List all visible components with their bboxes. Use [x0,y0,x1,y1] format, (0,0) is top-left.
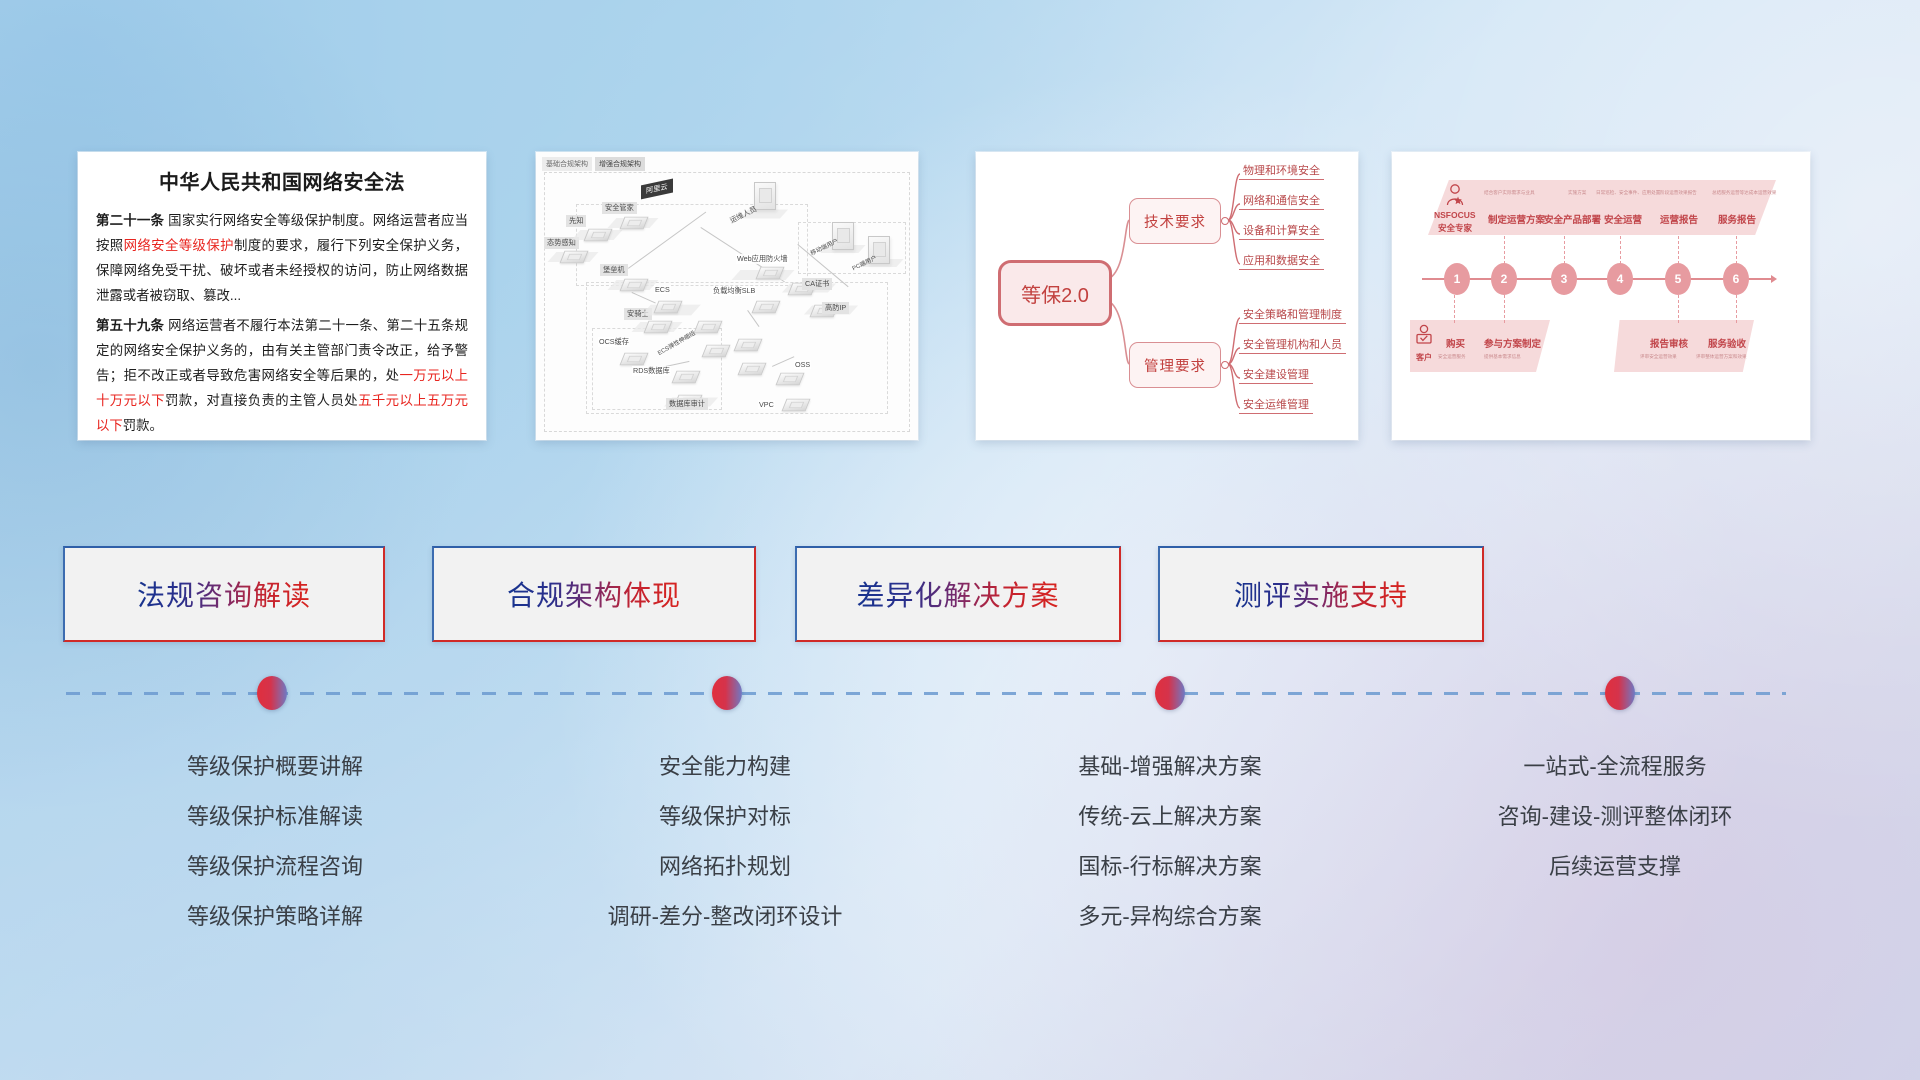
dash-bottom-5 [1678,295,1680,323]
card-law-document[interactable]: 中华人民共和国网络安全法 第二十一条 国家实行网络安全等级保护制度。网络运营者应… [78,152,486,440]
mindmap-branch-management: 管理要求 [1129,342,1221,388]
label-anti-ddos-ip: 高防IP [822,302,849,314]
dash-step-6 [1736,236,1738,264]
node-ecs [652,294,682,316]
article-59-text-c: 罚款。 [123,418,163,433]
mindmap-leaf-physical-security: 物理和环境安全 [1239,162,1324,180]
process-node-2[interactable]: 2 [1491,263,1517,295]
section-title-box-2[interactable]: 合规架构体现 [432,546,756,642]
node-vpc [780,392,810,414]
article-59-label: 第五十九条 [96,318,164,333]
process-node-5[interactable]: 5 [1665,263,1691,295]
cards-row: 中华人民共和国网络安全法 第二十一条 国家实行网络安全等级保护制度。网络运营者应… [0,152,1920,444]
step-2-sub: 结合客户实际需求与业具 [1484,190,1535,196]
list-item: 等级保护标准解读 [80,792,470,842]
dash-bottom-6 [1736,295,1738,323]
step-4-sub: 日常巡检、安全事件、应用处置 [1596,190,1660,196]
step-6-title: 服务报告 [1718,212,1756,226]
step-5-sub: 阶段运营效果报告 [1660,190,1697,196]
list-item: 多元-异构综合方案 [975,892,1365,942]
process-top-band [1428,180,1776,235]
section-items-2: 安全能力构建 等级保护对标 网络拓扑规划 调研-差分-整改闭环设计 [530,742,920,942]
card-mindmap[interactable]: 等保2.0 技术要求 物理和环境安全 网络和通信安全 设备和计算安全 应用和数据… [976,152,1358,440]
law-content: 中华人民共和国网络安全法 第二十一条 国家实行网络安全等级保护制度。网络运营者应… [78,152,486,440]
node-ocs-cache [618,346,648,368]
list-item: 一站式-全流程服务 [1420,742,1810,792]
process-node-1[interactable]: 1 [1444,263,1470,295]
label-bastion-host: 堡垒机 [600,264,628,276]
bottom-step-2-title: 参与方案制定 [1484,336,1541,350]
label-vpc: VPC [758,400,775,409]
bottom-step-6-sub: 评审整体运营方案和效果 [1696,354,1747,360]
step-4-title: 安全运营 [1604,212,1642,226]
bottom-step-2-sub: 提供基本需求信息 [1484,354,1521,360]
section-title-1: 法规咨询解读 [137,574,311,614]
mindmap-toggle-technical[interactable] [1221,217,1229,225]
bottom-step-6-title: 服务验收 [1708,336,1746,350]
dash-bottom-1 [1454,295,1456,323]
node-ecs-instance-4 [732,332,762,354]
bottom-step-1-title: 购买 [1446,336,1465,350]
process-node-3[interactable]: 3 [1551,263,1577,295]
dash-step-4 [1620,236,1622,264]
process-node-4[interactable]: 4 [1607,263,1633,295]
step-6-sub: 总结服务运营等达成本运营效果 [1712,190,1776,196]
expert-name-line2: 安全专家 [1438,222,1472,234]
timeline-dashed-line [66,692,1786,695]
list-item: 国标-行标解决方案 [975,842,1365,892]
list-item: 等级保护流程咨询 [80,842,470,892]
timeline-dot-1[interactable] [257,676,287,710]
list-item: 等级保护策略详解 [80,892,470,942]
expert-name-line1: NSFOCUS [1434,210,1476,220]
timeline-dot-4[interactable] [1605,676,1635,710]
mindmap-leaf-application-security: 应用和数据安全 [1239,252,1324,270]
node-slb [750,294,780,316]
list-item: 咨询-建设-测评整体闭环 [1420,792,1810,842]
step-2-title: 制定运营方案 [1488,212,1545,226]
step-3-title: 安全产品部署 [1544,212,1601,226]
section-items-1: 等级保护概要讲解 等级保护标准解读 等级保护流程咨询 等级保护策略详解 [80,742,470,942]
list-item: 后续运营支撑 [1420,842,1810,892]
law-article-59: 第五十九条 网络运营者不履行本法第二十一条、第二十五条规定的网络安全保护义务的，… [96,313,468,438]
section-title-3: 差异化解决方案 [856,574,1059,614]
list-item: 调研-差分-整改闭环设计 [530,892,920,942]
section-title-box-4[interactable]: 测评实施支持 [1158,546,1484,642]
mindmap-canvas: 等保2.0 技术要求 物理和环境安全 网络和通信安全 设备和计算安全 应用和数据… [976,152,1358,440]
section-title-2: 合规架构体现 [507,574,681,614]
bottom-step-1-sub: 安全运营服务 [1438,354,1466,360]
label-slb: 负载均衡SLB [712,286,756,296]
section-items-4: 一站式-全流程服务 咨询-建设-测评整体闭环 后续运营支撑 [1420,742,1810,892]
section-title-box-3[interactable]: 差异化解决方案 [795,546,1121,642]
mindmap-leaf-security-construction: 安全建设管理 [1239,366,1313,384]
node-ecs-instance-3 [700,338,730,360]
dash-step-3 [1564,236,1566,264]
mindmap-leaf-security-operations: 安全运维管理 [1239,396,1313,414]
list-item: 基础-增强解决方案 [975,742,1365,792]
card-process-timeline[interactable]: NSFOCUS 安全专家 客户 结合客户实际需求与业具 制定运营方案 实施方案 … [1392,152,1810,440]
list-item: 等级保护概要讲解 [80,742,470,792]
label-database-audit: 数据库审计 [666,398,708,410]
node-rds-database [670,364,700,386]
label-oss: OSS [794,360,811,369]
label-xianzhi: 先知 [566,215,586,227]
bottom-step-5-title: 报告审核 [1650,336,1688,350]
list-item: 传统-云上解决方案 [975,792,1365,842]
step-5-title: 运营报告 [1660,212,1698,226]
article-21-label: 第二十一条 [96,213,164,228]
customer-avatar-icon [1414,324,1434,348]
dash-step-5 [1678,236,1680,264]
process-canvas: NSFOCUS 安全专家 客户 结合客户实际需求与业具 制定运营方案 实施方案 … [1392,152,1810,440]
customer-label: 客户 [1416,352,1432,363]
process-axis [1422,278,1772,280]
list-item: 网络拓扑规划 [530,842,920,892]
dash-bottom-2 [1504,295,1506,323]
mindmap-leaf-network-security: 网络和通信安全 [1239,192,1324,210]
step-3-sub: 实施方案 [1568,190,1586,196]
label-security-butler: 安全管家 [602,202,637,214]
law-article-21: 第二十一条 国家实行网络安全等级保护制度。网络运营者应当按照网络安全等级保护制度… [96,208,468,308]
section-title-4: 测评实施支持 [1234,574,1408,614]
mindmap-leaf-security-policy: 安全策略和管理制度 [1239,306,1346,324]
process-node-6[interactable]: 6 [1723,263,1749,295]
section-title-box-1[interactable]: 法规咨询解读 [63,546,385,642]
architecture-tabs: 基础合规架构 增强合规架构 [542,157,645,171]
expert-avatar-icon [1444,183,1466,207]
list-item: 安全能力构建 [530,742,920,792]
architecture-canvas: 基础合规架构 增强合规架构 阿里云 态势感知 [536,152,918,440]
label-ca-certificate: CA证书 [802,278,832,290]
tab-enhanced-architecture[interactable]: 增强合规架构 [595,157,645,171]
node-ops-user [754,182,776,210]
dash-step-2 [1504,236,1506,264]
label-ocs-cache: OCS缓存 [598,337,630,347]
label-ecs: ECS [654,285,671,294]
section-items-3: 基础-增强解决方案 传统-云上解决方案 国标-行标解决方案 多元-异构综合方案 [975,742,1365,942]
label-waf: Web应用防火墙 [736,254,789,264]
mindmap-leaf-security-org: 安全管理机构和人员 [1239,336,1346,354]
list-item: 等级保护对标 [530,792,920,842]
article-21-highlight: 网络安全等级保护 [124,238,234,253]
timeline-dot-2[interactable] [712,676,742,710]
mindmap-leaf-device-security: 设备和计算安全 [1239,222,1324,240]
article-59-text-b: 罚款，对直接负责的主管人员处 [165,393,358,408]
card-architecture-diagram[interactable]: 基础合规架构 增强合规架构 阿里云 态势感知 [536,152,918,440]
node-ecs-instance-5 [736,356,766,378]
tab-basic-architecture[interactable]: 基础合规架构 [542,157,592,171]
mindmap-toggle-management[interactable] [1221,361,1229,369]
mindmap-branch-technical: 技术要求 [1129,198,1221,244]
label-rds-database: RDS数据库 [632,366,671,376]
timeline-dot-3[interactable] [1155,676,1185,710]
mindmap-root: 等保2.0 [998,260,1112,326]
node-oss [774,366,804,388]
node-xianzhi [582,222,612,244]
bottom-step-5-sub: 评审安全运营效果 [1640,354,1677,360]
law-title: 中华人民共和国网络安全法 [96,166,468,195]
